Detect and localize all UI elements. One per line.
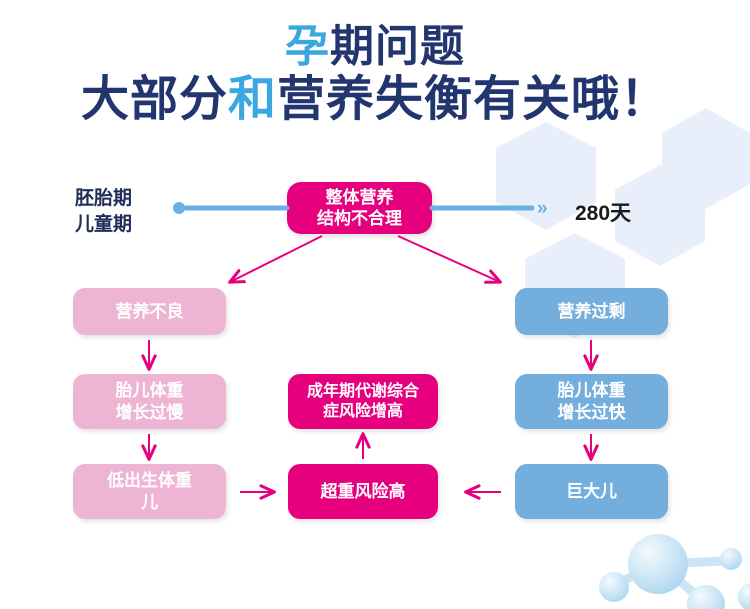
title-line-1: 孕期问题: [0, 24, 750, 71]
title-text-problems: 期问题: [330, 22, 465, 71]
title-highlight-and: 和: [228, 73, 277, 126]
page-title: 孕期问题 大部分和营养失衡有关哦！: [0, 24, 750, 126]
infographic-canvas: 孕期问题 大部分和营养失衡有关哦！: [0, 0, 750, 609]
title-line-2: 大部分和营养失衡有关哦！: [0, 75, 750, 126]
arrow-source-to-left: [230, 236, 322, 282]
arrow-source-to-right: [398, 236, 500, 282]
title-text-nutrition-imbalance: 营养失衡有关哦！: [277, 73, 669, 126]
title-highlight-pregnancy: 孕: [285, 22, 330, 71]
title-text-most: 大部分: [81, 73, 228, 126]
timeline-spine: [173, 202, 532, 214]
branch-arrows: [230, 236, 500, 282]
